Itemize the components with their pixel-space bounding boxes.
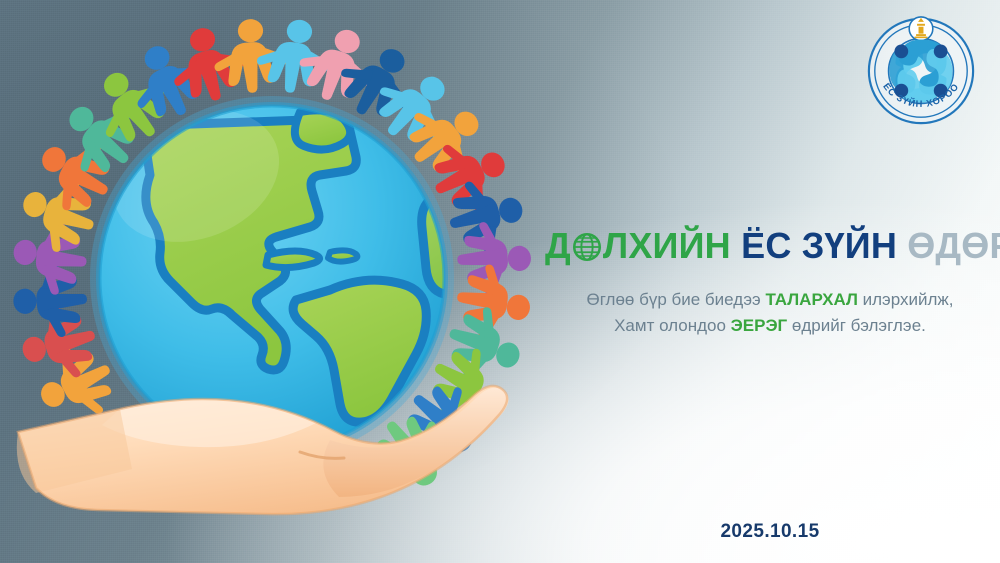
title-part-green-d: Д [545, 225, 571, 266]
ethics-committee-logo: ЁС ЗҮЙН ХОРОО [862, 12, 980, 130]
soyombo-icon [909, 17, 933, 41]
subtitle-line1-pre: Өглөө бүр бие биедээ [587, 290, 766, 309]
event-date: 2025.10.15 [545, 521, 995, 543]
title-part-navy: ЁС ЗҮЙН [741, 225, 897, 266]
globe-letter-o-icon [572, 232, 602, 262]
subtitle: Өглөө бүр бие биедээ ТАЛАРХАЛ илэрхийлж,… [545, 287, 995, 340]
poster-canvas: ЁС ЗҮЙН ХОРОО Д ЛХИЙН ЁС ЗҮЙН ӨДӨР Өглөө… [0, 0, 1000, 563]
page-title: Д ЛХИЙН ЁС ЗҮЙН ӨДӨР [545, 228, 995, 264]
subtitle-line2-pre: Хамт олондоо [614, 316, 731, 335]
subtitle-line-2: Хамт олондоо ЭЕРЭГ өдрийг бэлэглэе. [545, 313, 995, 339]
subtitle-line2-post: өдрийг бэлэглэе. [787, 316, 926, 335]
subtitle-line1-post: илэрхийлж, [858, 290, 954, 309]
illustration-earth-in-hand [0, 0, 560, 563]
earth-globe [93, 86, 483, 450]
title-space-1 [731, 225, 741, 266]
subtitle-line1-highlight: ТАЛАРХАЛ [765, 290, 857, 309]
title-part-green-rest: ЛХИЙН [603, 225, 731, 266]
title-space-2 [897, 225, 907, 266]
subtitle-line2-highlight: ЭЕРЭГ [731, 316, 788, 335]
title-part-gray: ӨДӨР [907, 225, 1000, 266]
subtitle-line-1: Өглөө бүр бие биедээ ТАЛАРХАЛ илэрхийлж, [545, 287, 995, 313]
